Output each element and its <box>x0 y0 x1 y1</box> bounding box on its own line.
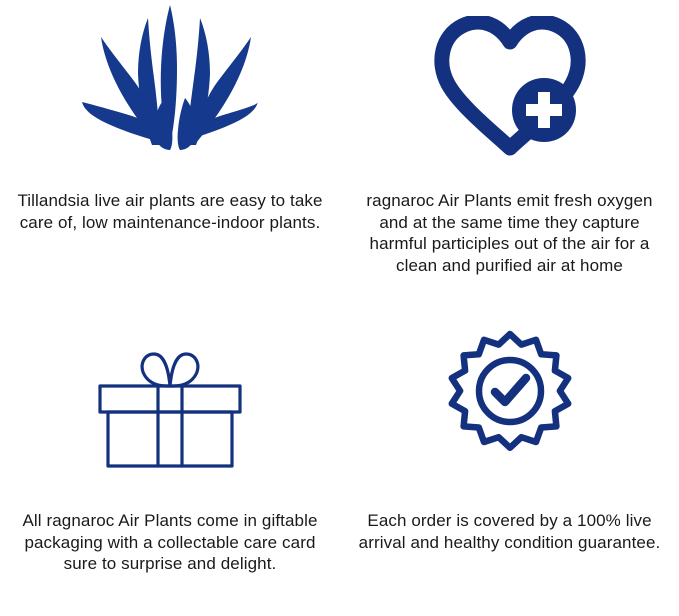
feature-caption: ragnaroc Air Plants emit fresh oxygen an… <box>340 190 679 276</box>
air-plant-icon-wrap <box>0 0 340 190</box>
feature-caption: Each order is covered by a 100% live arr… <box>340 510 679 553</box>
check-icon <box>495 378 526 402</box>
air-plant-icon <box>82 2 258 154</box>
bow-right-loop <box>170 354 198 386</box>
bow-left-loop <box>142 354 170 386</box>
feature-grid: Tillandsia live air plants are easy to t… <box>0 0 679 616</box>
guarantee-badge-icon-wrap <box>340 308 679 510</box>
heart-plus-icon-wrap <box>340 0 679 190</box>
gift-body <box>108 412 232 466</box>
gift-lid <box>100 386 240 412</box>
gift-box-icon <box>92 346 248 470</box>
gift-box-icon-wrap <box>0 308 340 510</box>
feature-cell-air-purify: ragnaroc Air Plants emit fresh oxygen an… <box>340 0 679 308</box>
feature-cell-air-plant: Tillandsia live air plants are easy to t… <box>0 0 340 308</box>
feature-cell-guarantee: Each order is covered by a 100% live arr… <box>340 308 679 616</box>
heart-plus-icon <box>434 16 586 156</box>
guarantee-badge-icon <box>444 330 576 462</box>
feature-cell-gift-packaging: All ragnaroc Air Plants come in giftable… <box>0 308 340 616</box>
feature-caption: All ragnaroc Air Plants come in giftable… <box>0 510 340 575</box>
feature-caption: Tillandsia live air plants are easy to t… <box>0 190 340 233</box>
